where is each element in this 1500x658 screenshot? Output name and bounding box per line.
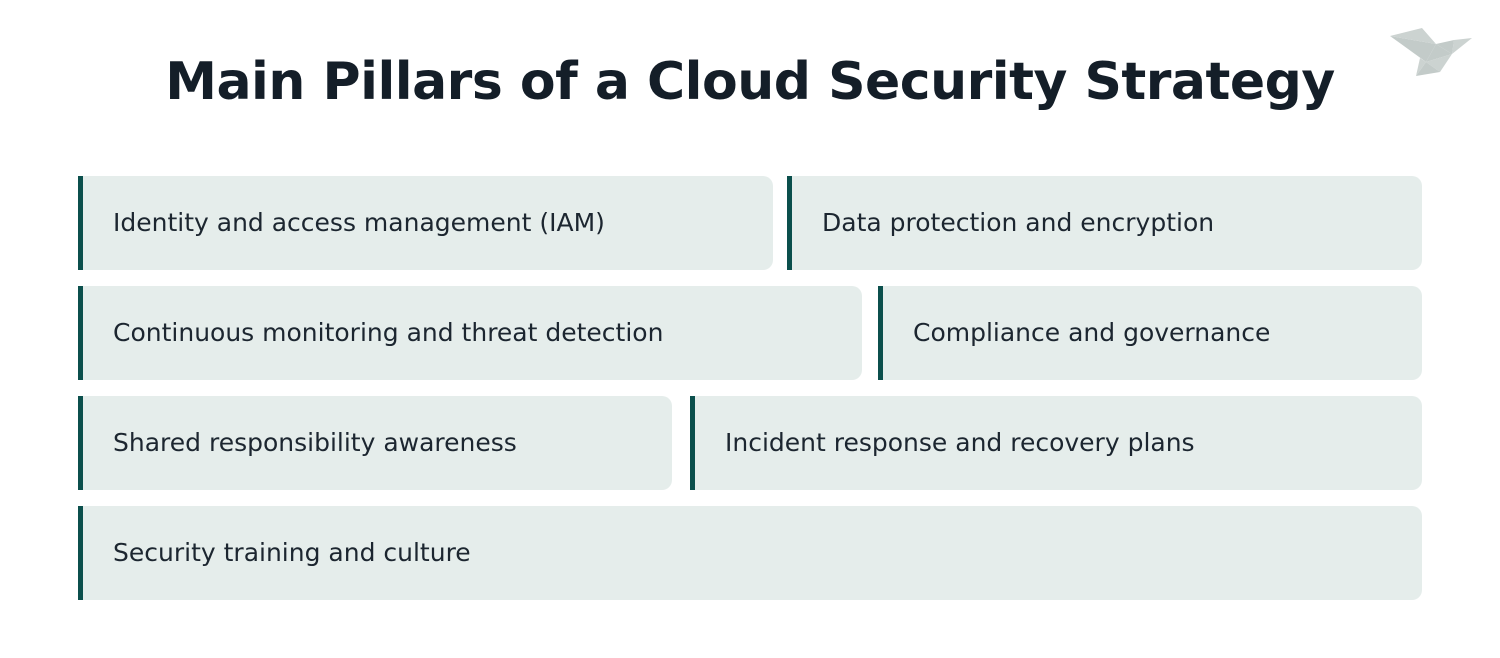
pillar-card-iam[interactable]: Identity and access management (IAM) [78, 176, 773, 270]
pillar-label: Shared responsibility awareness [83, 428, 541, 458]
pillar-row: Security training and culture [78, 506, 1422, 600]
pillar-card-shared-responsibility[interactable]: Shared responsibility awareness [78, 396, 672, 490]
pillar-card-monitoring[interactable]: Continuous monitoring and threat detecti… [78, 286, 862, 380]
pillar-label: Compliance and governance [883, 318, 1294, 348]
pillar-card-security-training[interactable]: Security training and culture [78, 506, 1422, 600]
pillar-label: Security training and culture [83, 538, 495, 568]
pillar-label: Identity and access management (IAM) [83, 208, 629, 238]
pillar-label: Continuous monitoring and threat detecti… [83, 318, 687, 348]
page-title: Main Pillars of a Cloud Security Strateg… [0, 52, 1500, 112]
pillar-row: Identity and access management (IAM) Dat… [78, 176, 1422, 270]
pillar-label: Incident response and recovery plans [695, 428, 1219, 458]
pillar-card-data-protection[interactable]: Data protection and encryption [787, 176, 1422, 270]
pillar-row: Continuous monitoring and threat detecti… [78, 286, 1422, 380]
infographic-canvas: Main Pillars of a Cloud Security Strateg… [0, 0, 1500, 658]
pillar-row: Shared responsibility awareness Incident… [78, 396, 1422, 490]
pillar-list: Identity and access management (IAM) Dat… [78, 176, 1422, 600]
pillar-card-incident-response[interactable]: Incident response and recovery plans [690, 396, 1422, 490]
pillar-label: Data protection and encryption [792, 208, 1238, 238]
pillar-card-compliance[interactable]: Compliance and governance [878, 286, 1422, 380]
